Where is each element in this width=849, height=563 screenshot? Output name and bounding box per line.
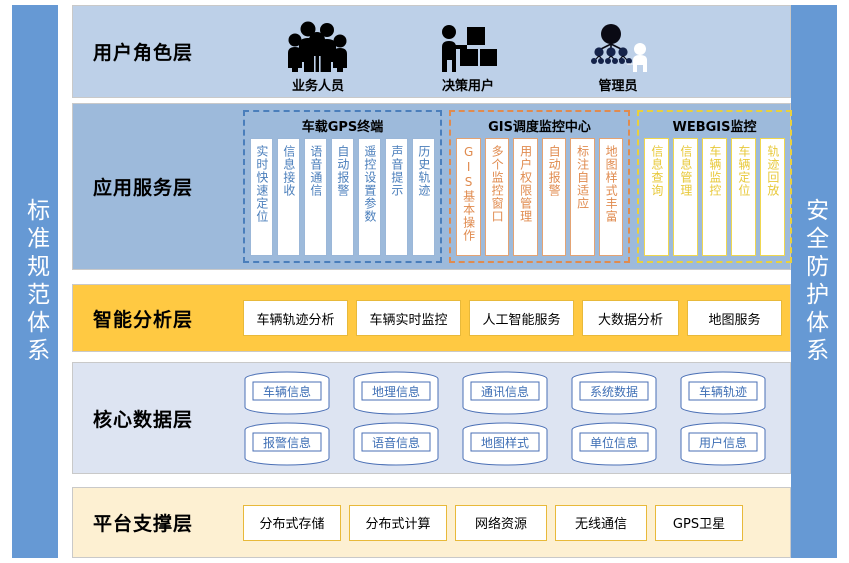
database-cylinder[interactable]: 地理信息 [352,371,440,415]
group-people-icon [286,18,350,72]
analysis-item[interactable]: 大数据分析 [582,300,679,336]
app-item[interactable]: 轨迹回放 [760,138,785,256]
user-role-list: 业务人员 决策用户 [243,3,790,100]
database-cylinder[interactable]: 通讯信息 [461,371,549,415]
app-item[interactable]: 历史轨迹 [412,138,435,256]
platform-item[interactable]: 分布式存储 [243,505,341,541]
database-cylinder[interactable]: 用户信息 [679,422,767,466]
application-service-layer-title: 应用服务层 [73,173,243,200]
group-title: WEBGIS监控 [644,114,785,138]
org-chart-person-icon [587,18,649,72]
app-item[interactable]: 信息查询 [644,138,669,256]
database-cylinder[interactable]: 单位信息 [570,422,658,466]
app-item[interactable]: 信息管理 [673,138,698,256]
app-item[interactable]: 自动报警 [542,138,567,256]
security-protection-system-label: 安全防护体系 [801,198,826,366]
group-title: GIS调度监控中心 [456,114,623,138]
platform-item[interactable]: 无线通信 [555,505,647,541]
platform-item[interactable]: 分布式计算 [349,505,447,541]
database-label: 车辆轨迹 [679,371,767,427]
platform-item[interactable]: GPS卫星 [655,505,743,541]
architecture-diagram: 标准规范体系 安全防护体系 用户角色层 [0,0,849,563]
user-role-layer: 用户角色层 [72,5,791,98]
database-row: 报警信息 语音信息 地图样式 单位信息 用户信息 [243,422,778,466]
database-label: 车辆信息 [243,371,331,427]
app-item[interactable]: 实时快速定位 [250,138,273,256]
role-label: 决策用户 [442,75,494,94]
database-label: 用户信息 [679,422,767,478]
group-items: GIS基本操作 多个监控窗口 用户权限管理 自动报警 标注自适应 地图样式丰富 [456,138,623,256]
database-label: 系统数据 [570,371,658,427]
platform-item[interactable]: 网络资源 [455,505,547,541]
app-item[interactable]: 自动报警 [331,138,354,256]
database-cylinder[interactable]: 语音信息 [352,422,440,466]
app-item[interactable]: 车辆定位 [731,138,756,256]
app-item[interactable]: 声音提示 [385,138,408,256]
database-label: 地理信息 [352,371,440,427]
core-data-layer-title: 核心数据层 [73,405,243,432]
app-item[interactable]: GIS基本操作 [456,138,481,256]
group-vehicle-gps-terminal[interactable]: 车载GPS终端 实时快速定位 信息接收 语音通信 自动报警 遥控设置参数 声音提… [243,110,442,263]
analysis-item[interactable]: 地图服务 [687,300,782,336]
group-items: 实时快速定位 信息接收 语音通信 自动报警 遥控设置参数 声音提示 历史轨迹 [250,138,435,256]
person-blocks-icon [438,18,498,72]
standards-spec-system-label: 标准规范体系 [22,198,47,366]
app-item[interactable]: 多个监控窗口 [485,138,510,256]
role-decision-user[interactable]: 决策用户 [393,18,543,94]
role-label: 业务人员 [292,75,344,94]
platform-support-layer: 平台支撑层 分布式存储 分布式计算 网络资源 无线通信 GPS卫星 [72,487,791,558]
database-label: 地图样式 [461,422,549,478]
intelligent-analysis-layer-title: 智能分析层 [73,305,243,332]
application-service-layer: 应用服务层 车载GPS终端 实时快速定位 信息接收 语音通信 自动报警 遥控设置… [72,103,791,270]
group-title: 车载GPS终端 [250,114,435,138]
app-item[interactable]: 标注自适应 [570,138,595,256]
database-cylinder[interactable]: 报警信息 [243,422,331,466]
app-item[interactable]: 车辆监控 [702,138,727,256]
database-label: 语音信息 [352,422,440,478]
role-business-staff[interactable]: 业务人员 [243,18,393,94]
database-cylinder[interactable]: 车辆轨迹 [679,371,767,415]
role-administrator[interactable]: 管理员 [543,18,693,94]
platform-support-layer-title: 平台支撑层 [73,509,243,536]
database-label: 通讯信息 [461,371,549,427]
database-label: 单位信息 [570,422,658,478]
application-group-list: 车载GPS终端 实时快速定位 信息接收 语音通信 自动报警 遥控设置参数 声音提… [243,104,798,269]
analysis-item[interactable]: 车辆实时监控 [356,300,461,336]
app-item[interactable]: 遥控设置参数 [358,138,381,256]
intelligent-analysis-item-list: 车辆轨迹分析 车辆实时监控 人工智能服务 大数据分析 地图服务 [243,300,790,336]
database-cylinder[interactable]: 系统数据 [570,371,658,415]
user-role-layer-title: 用户角色层 [81,38,243,65]
app-item[interactable]: 语音通信 [304,138,327,256]
database-label: 报警信息 [243,422,331,478]
security-protection-system-bar: 安全防护体系 [791,5,837,558]
app-item[interactable]: 用户权限管理 [513,138,538,256]
database-row: 车辆信息 地理信息 通讯信息 系统数据 车辆轨迹 [243,371,778,415]
core-data-layer: 核心数据层 车辆信息 地理信息 通讯信息 系统数据 [72,362,791,474]
analysis-item[interactable]: 人工智能服务 [469,300,574,336]
platform-support-item-list: 分布式存储 分布式计算 网络资源 无线通信 GPS卫星 [243,505,790,541]
intelligent-analysis-layer: 智能分析层 车辆轨迹分析 车辆实时监控 人工智能服务 大数据分析 地图服务 [72,284,791,352]
group-items: 信息查询 信息管理 车辆监控 车辆定位 轨迹回放 [644,138,785,256]
group-webgis-monitor[interactable]: WEBGIS监控 信息查询 信息管理 车辆监控 车辆定位 轨迹回放 [637,110,792,263]
group-gis-dispatch-monitor-center[interactable]: GIS调度监控中心 GIS基本操作 多个监控窗口 用户权限管理 自动报警 标注自… [449,110,630,263]
role-label: 管理员 [598,75,637,94]
database-cylinder[interactable]: 地图样式 [461,422,549,466]
database-grid: 车辆信息 地理信息 通讯信息 系统数据 车辆轨迹 [243,371,790,466]
app-item[interactable]: 信息接收 [277,138,300,256]
app-item[interactable]: 地图样式丰富 [599,138,624,256]
analysis-item[interactable]: 车辆轨迹分析 [243,300,348,336]
database-cylinder[interactable]: 车辆信息 [243,371,331,415]
standards-spec-system-bar: 标准规范体系 [12,5,58,558]
